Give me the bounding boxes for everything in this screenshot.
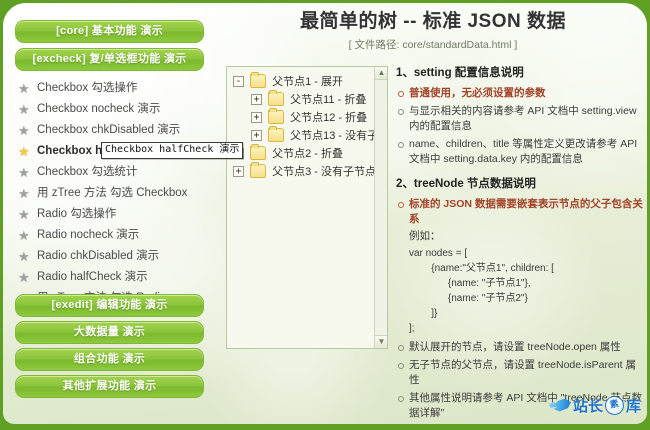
page-title: 最简单的树 -- 标准 JSON 数据 [216, 9, 650, 35]
tree-panel[interactable]: - 父节点1 - 展开 + 父节点11 - 折叠 + 父节点12 - 折叠 + … [226, 66, 388, 349]
folder-icon [250, 74, 266, 88]
file-path-subtitle: [ 文件路径: core/standardData.html ] [216, 38, 650, 52]
star-icon: ★ [18, 187, 31, 200]
tree-row[interactable]: + 父节点11 - 折叠 [233, 91, 374, 109]
star-icon: ★ [18, 103, 31, 116]
site-watermark: 站长 素 库 [549, 392, 641, 418]
tree-row[interactable]: + 父节点12 - 折叠 [233, 109, 374, 127]
expand-icon[interactable]: + [233, 166, 244, 177]
tree-node-label: 父节点3 - 没有子节点 [272, 166, 374, 178]
nav-button-excheck[interactable]: [excheck] 复/单选框功能 演示 [15, 48, 204, 71]
star-icon: ★ [18, 82, 31, 95]
star-icon: ★ [18, 250, 31, 263]
folder-icon [250, 146, 266, 160]
book-icon: 素 [603, 394, 626, 417]
expand-icon[interactable]: + [251, 94, 262, 105]
sidebar-item-ztree-method-checkbox[interactable]: ★ 用 zTree 方法 勾选 Checkbox [15, 183, 204, 204]
folder-icon [268, 92, 284, 106]
sidebar-item-checkbox-chkdisabled[interactable]: ★ Checkbox chkDisabled 演示 [15, 120, 204, 141]
nav-button-exedit[interactable]: [exedit] 编辑功能 演示 [15, 294, 204, 317]
sidebar: [core] 基本功能 演示 [excheck] 复/单选框功能 演示 ★ Ch… [3, 3, 216, 424]
tree-body: - 父节点1 - 展开 + 父节点11 - 折叠 + 父节点12 - 折叠 + … [227, 67, 374, 348]
sidebar-item-label: Radio halfCheck 演示 [37, 271, 148, 283]
bullet-item: 与显示相关的内容请参考 API 文档中 setting.view 内的配置信息 [396, 104, 646, 134]
section-2-heading: 2、treeNode 节点数据说明 [396, 176, 646, 192]
star-icon: ★ [18, 145, 31, 158]
scroll-up-icon[interactable]: ▲ [375, 67, 388, 80]
scroll-down-icon[interactable]: ▼ [375, 335, 388, 348]
star-icon: ★ [18, 229, 31, 242]
header: 最简单的树 -- 标准 JSON 数据 [ 文件路径: core/standar… [216, 9, 650, 52]
section-1-heading: 1、setting 配置信息说明 [396, 65, 646, 81]
folder-icon [250, 164, 266, 178]
collapse-icon[interactable]: - [233, 76, 244, 87]
sidebar-item-label: Checkbox 勾选操作 [37, 82, 137, 94]
tree-node-label: 父节点13 - 没有子节点 [290, 130, 374, 142]
sidebar-item-checkbox-stats[interactable]: ★ Checkbox 勾选统计 [15, 162, 204, 183]
watermark-text-2: 库 [626, 395, 641, 416]
expand-icon[interactable]: + [251, 112, 262, 123]
section-1-bullets: 普通使用，无必须设置的参数 与显示相关的内容请参考 API 文档中 settin… [396, 86, 646, 167]
section-2-bullets: 标准的 JSON 数据需要嵌套表示节点的父子包含关系 [396, 197, 646, 227]
sidebar-bottom-buttons: [exedit] 编辑功能 演示 大数据量 演示 组合功能 演示 其他扩展功能 … [15, 294, 204, 402]
nav-button-bigdata[interactable]: 大数据量 演示 [15, 321, 204, 344]
swoosh-icon [549, 398, 571, 412]
tree-scrollbar[interactable]: ▲ ▼ [374, 67, 387, 348]
tooltip: Checkbox halfCheck 演示 [101, 142, 243, 159]
sidebar-item-label: Checkbox 勾选统计 [37, 166, 137, 178]
content-panel: 1、setting 配置信息说明 普通使用，无必须设置的参数 与显示相关的内容请… [396, 65, 646, 430]
star-icon: ★ [18, 124, 31, 137]
star-icon: ★ [18, 271, 31, 284]
star-icon: ★ [18, 208, 31, 221]
sidebar-item-radio-halfcheck[interactable]: ★ Radio halfCheck 演示 [15, 267, 204, 288]
tree-node-label: 父节点12 - 折叠 [290, 112, 367, 124]
watermark-text-1: 站长 [573, 395, 603, 416]
tree-node-label: 父节点1 - 展开 [272, 76, 343, 88]
bullet-item: 无子节点的父节点，请设置 treeNode.isParent 属性 [396, 358, 646, 388]
sidebar-item-checkbox-nocheck[interactable]: ★ Checkbox nocheck 演示 [15, 99, 204, 120]
tree-row[interactable]: + 父节点2 - 折叠 [233, 145, 374, 163]
bullet-item: 普通使用，无必须设置的参数 [396, 86, 646, 101]
tree-node-label: 父节点11 - 折叠 [290, 94, 366, 106]
sidebar-item-label: 用 zTree 方法 勾选 Checkbox [37, 187, 187, 199]
sidebar-item-checkbox-check[interactable]: ★ Checkbox 勾选操作 [15, 78, 204, 99]
sidebar-demo-list: ★ Checkbox 勾选操作 ★ Checkbox nocheck 演示 ★ … [15, 78, 204, 309]
bullet-item: name、children、title 等属性定义更改请参考 API 文档中 s… [396, 137, 646, 167]
tree-row[interactable]: - 父节点1 - 展开 [233, 73, 374, 91]
bullet-item: 默认展开的节点，请设置 treeNode.open 属性 [396, 340, 646, 355]
tree-node-label: 父节点2 - 折叠 [272, 148, 343, 160]
nav-button-combo[interactable]: 组合功能 演示 [15, 348, 204, 371]
sidebar-item-label: Radio 勾选操作 [37, 208, 116, 220]
page-frame: [core] 基本功能 演示 [excheck] 复/单选框功能 演示 ★ Ch… [0, 0, 650, 427]
nav-button-other-ext[interactable]: 其他扩展功能 演示 [15, 375, 204, 398]
star-icon: ★ [18, 166, 31, 179]
tree-row[interactable]: + 父节点3 - 没有子节点 [233, 163, 374, 181]
sidebar-item-label: Checkbox nocheck 演示 [37, 103, 160, 115]
folder-icon [268, 128, 284, 142]
folder-icon [268, 110, 284, 124]
bullet-item: 标准的 JSON 数据需要嵌套表示节点的父子包含关系 [396, 197, 646, 227]
sidebar-item-radio-check[interactable]: ★ Radio 勾选操作 [15, 204, 204, 225]
example-label: 例如： [409, 229, 646, 244]
nav-button-core[interactable]: [core] 基本功能 演示 [15, 20, 204, 43]
code-sample: var nodes = [ {name:"父节点1", children: [ … [409, 246, 646, 336]
sidebar-item-label: Checkbox chkDisabled 演示 [37, 124, 180, 136]
sidebar-item-label: Radio chkDisabled 演示 [37, 250, 159, 262]
tree-row[interactable]: + 父节点13 - 没有子节点 [233, 127, 374, 145]
expand-icon[interactable]: + [251, 130, 262, 141]
sidebar-item-radio-chkdisabled[interactable]: ★ Radio chkDisabled 演示 [15, 246, 204, 267]
sidebar-item-label: Radio nocheck 演示 [37, 229, 139, 241]
sidebar-item-radio-nocheck[interactable]: ★ Radio nocheck 演示 [15, 225, 204, 246]
